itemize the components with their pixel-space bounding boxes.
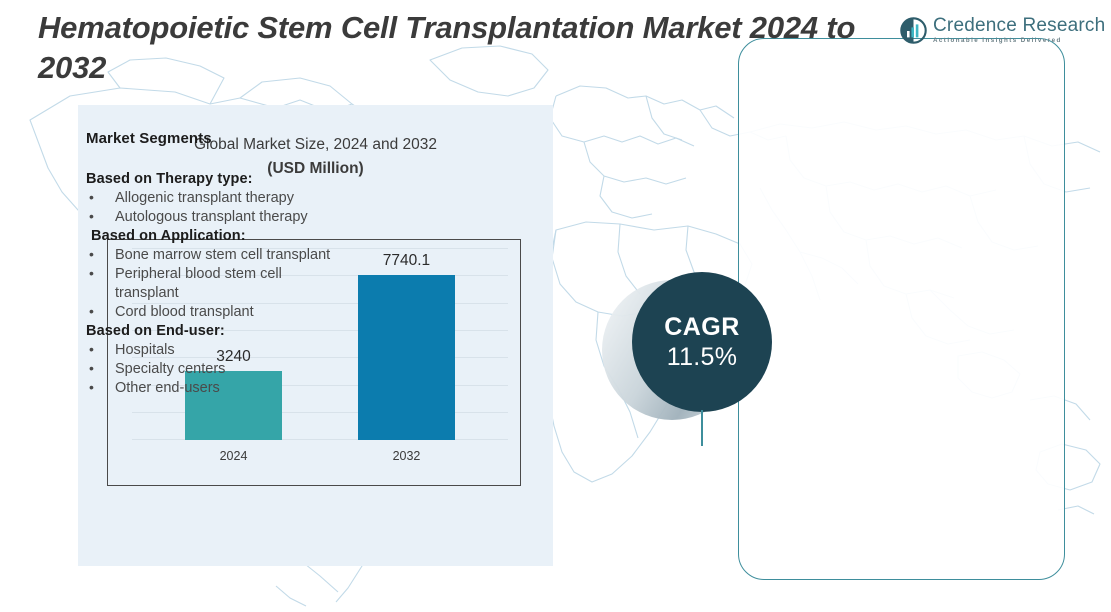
cagr-badge: CAGR 11.5% xyxy=(602,272,772,430)
page-title: Hematopoietic Stem Cell Transplantation … xyxy=(38,8,908,88)
segment-group-heading-end-user: Based on End-user: xyxy=(86,323,346,339)
list-item: Bone marrow stem cell transplant xyxy=(86,246,346,265)
segment-group-heading-application: Based on Application: xyxy=(86,228,346,244)
segment-list-end-user: Hospitals Specialty centers Other end-us… xyxy=(86,341,346,398)
bar-group-2032: 7740.1 2032 xyxy=(358,248,456,440)
logo-text: Credence Research Actionable Insights De… xyxy=(933,16,1105,45)
bar-label-2032: 2032 xyxy=(358,440,456,463)
bar-2032[interactable]: 7740.1 xyxy=(358,275,456,440)
cagr-connector-line xyxy=(701,410,703,446)
list-item: Cord blood transplant xyxy=(86,303,346,322)
list-item: Allogenic transplant therapy xyxy=(86,189,346,208)
market-segments-panel xyxy=(738,38,1065,580)
list-item: Peripheral blood stem cell transplant xyxy=(86,265,346,303)
list-item: Other end-users xyxy=(86,379,346,398)
cagr-label: CAGR xyxy=(664,312,740,342)
segments-title: Market Segments xyxy=(86,130,346,147)
logo-tagline: Actionable Insights Delivered xyxy=(933,36,1105,45)
segment-group-heading-therapy-type: Based on Therapy type: xyxy=(86,171,346,187)
list-item: Specialty centers xyxy=(86,360,346,379)
brand-logo: Credence Research Actionable Insights De… xyxy=(900,16,1105,45)
logo-name: Credence Research xyxy=(933,16,1105,36)
cagr-circle: CAGR 11.5% xyxy=(632,272,772,412)
market-segments-content: Market Segments Based on Therapy type: A… xyxy=(86,130,346,399)
bar-value-2032: 7740.1 xyxy=(358,252,456,275)
bar-label-2024: 2024 xyxy=(185,440,283,463)
list-item: Hospitals xyxy=(86,341,346,360)
list-item: Autologous transplant therapy xyxy=(86,208,346,227)
cagr-value: 11.5% xyxy=(667,342,738,372)
segment-list-therapy-type: Allogenic transplant therapy Autologous … xyxy=(86,189,346,227)
bar-chart-circle-icon xyxy=(900,17,927,44)
segment-list-application: Bone marrow stem cell transplant Periphe… xyxy=(86,246,346,322)
